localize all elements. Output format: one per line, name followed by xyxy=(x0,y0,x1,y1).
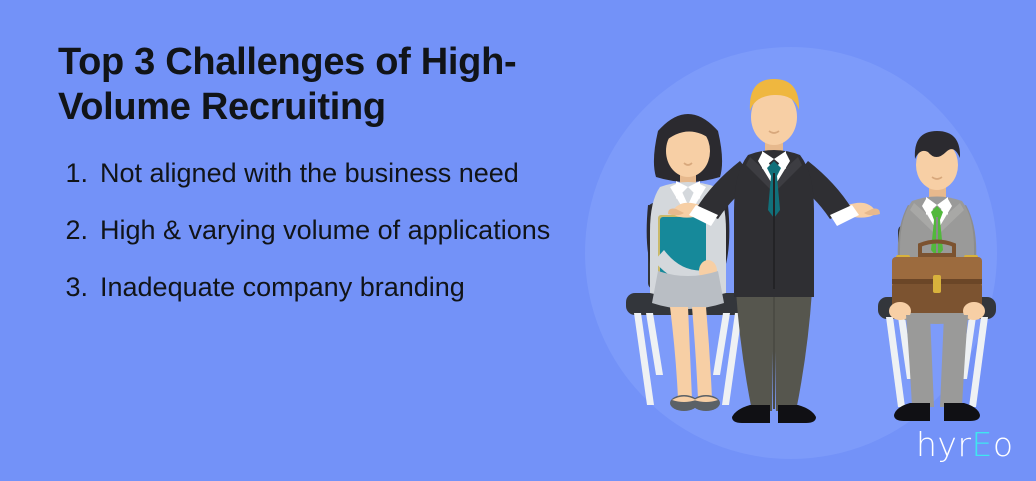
list-item-label: Not aligned with the business need xyxy=(100,156,519,191)
logo-text-part-2: o xyxy=(993,425,1014,464)
list-item-label: Inadequate company branding xyxy=(100,270,465,305)
list-item-number: 2. xyxy=(58,213,100,248)
page-title: Top 3 Challenges of High-Volume Recruiti… xyxy=(58,40,598,130)
hyreo-logo[interactable]: hyrEo xyxy=(916,428,1014,461)
list-item-number: 3. xyxy=(58,270,100,305)
list-item: 2. High & varying volume of applications xyxy=(58,213,628,248)
list-item: 1. Not aligned with the business need xyxy=(58,156,628,191)
list-item-number: 1. xyxy=(58,156,100,191)
interview-panel-illustration xyxy=(600,75,1020,445)
logo-text-part-1: hyr xyxy=(916,425,972,464)
seated-woman-candidate xyxy=(626,114,750,411)
seated-man-candidate xyxy=(878,131,996,421)
list-item: 3. Inadequate company branding xyxy=(58,270,628,305)
logo-text-accent: E xyxy=(972,425,993,464)
slide-canvas: Top 3 Challenges of High-Volume Recruiti… xyxy=(0,0,1036,481)
list-item-label: High & varying volume of applications xyxy=(100,213,550,248)
text-column: Top 3 Challenges of High-Volume Recruiti… xyxy=(58,40,628,327)
challenges-list: 1. Not aligned with the business need 2.… xyxy=(58,156,628,305)
